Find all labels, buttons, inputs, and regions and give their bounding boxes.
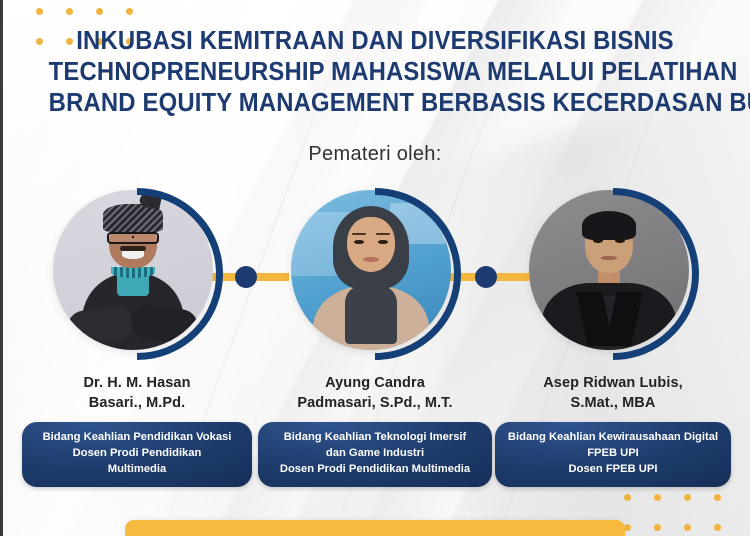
- speaker-name-line: Basari., M.Pd.: [89, 395, 186, 411]
- gold-dot: [96, 8, 103, 15]
- speaker-name-2: Ayung Candra Padmasari, S.Pd., M.T.: [265, 373, 485, 413]
- gold-dot: [126, 8, 133, 15]
- info-line: dan Game Industri: [266, 446, 484, 462]
- speaker-info-pill-1: Bidang Keahlian Pendidikan Vokasi Dosen …: [22, 422, 252, 487]
- info-line: Bidang Keahlian Kewirausahaan Digital: [503, 430, 723, 446]
- poster-canvas: INKUBASI KEMITRAAN DAN DIVERSIFIKASI BIS…: [0, 0, 750, 536]
- photo-brow-left: [352, 233, 366, 235]
- bottom-gold-bar: [125, 520, 625, 536]
- gold-dot: [66, 8, 73, 15]
- info-line: Multimedia: [30, 462, 244, 478]
- speaker-name-1: Dr. H. M. Hasan Basari., M.Pd.: [27, 373, 247, 413]
- speaker-name-line: Asep Ridwan Lubis,: [543, 375, 683, 391]
- avatar-wrap-2: [289, 188, 461, 360]
- info-line: Dosen FPEB UPI: [503, 462, 723, 478]
- speaker-card-1: Dr. H. M. Hasan Basari., M.Pd. Bidang Ke…: [18, 188, 256, 487]
- speaker-name-3: Asep Ridwan Lubis, S.Mat., MBA: [503, 373, 723, 413]
- poster-headline: INKUBASI KEMITRAAN DAN DIVERSIFIKASI BIS…: [0, 26, 750, 119]
- speaker-card-2: Ayung Candra Padmasari, S.Pd., M.T. Bida…: [256, 188, 494, 487]
- speaker-name-line: Ayung Candra: [325, 375, 425, 391]
- speaker-name-line: Dr. H. M. Hasan: [83, 375, 190, 391]
- speaker-card-3: Asep Ridwan Lubis, S.Mat., MBA Bidang Ke…: [494, 188, 732, 487]
- info-line: Dosen Prodi Pendidikan Multimedia: [266, 462, 484, 478]
- gold-dot: [36, 8, 43, 15]
- gold-dot: [684, 524, 691, 531]
- headline-line-2: TECHNOPRENEURSHIP MAHASISWA MELALUI PELA…: [49, 57, 702, 88]
- speaker-info-pill-3: Bidang Keahlian Kewirausahaan Digital FP…: [495, 422, 731, 487]
- avatar-wrap-1: [51, 188, 223, 360]
- photo-eye-left: [593, 238, 603, 243]
- info-line: Bidang Keahlian Pendidikan Vokasi: [30, 430, 244, 446]
- speakers-subtitle: Pemateri oleh:: [0, 143, 750, 166]
- info-line: FPEB UPI: [503, 446, 723, 462]
- gold-dot: [654, 524, 661, 531]
- info-line: Bidang Keahlian Teknologi Imersif: [266, 430, 484, 446]
- info-line: Dosen Prodi Pendidikan: [30, 446, 244, 462]
- headline-line-1: INKUBASI KEMITRAAN DAN DIVERSIFIKASI BIS…: [49, 26, 702, 57]
- speakers-row: Dr. H. M. Hasan Basari., M.Pd. Bidang Ke…: [0, 188, 750, 508]
- headline-line-3: BRAND EQUITY MANAGEMENT BERBASIS KECERDA…: [49, 88, 702, 119]
- speaker-name-line: S.Mat., MBA: [571, 395, 656, 411]
- gold-dot: [714, 524, 721, 531]
- left-edge-border: [0, 0, 3, 536]
- avatar-wrap-3: [527, 188, 699, 360]
- speaker-info-pill-2: Bidang Keahlian Teknologi Imersif dan Ga…: [258, 422, 492, 487]
- speaker-name-line: Padmasari, S.Pd., M.T.: [297, 395, 452, 411]
